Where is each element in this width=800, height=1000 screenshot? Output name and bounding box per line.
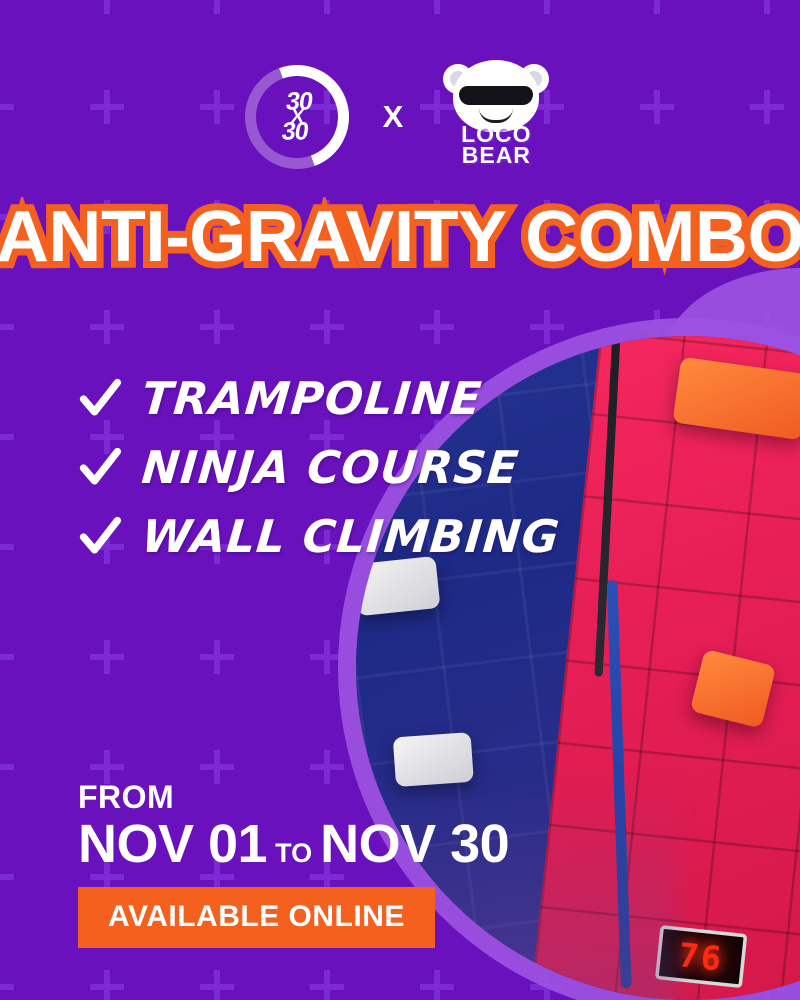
plus-decoration (530, 0, 564, 14)
date-range: NOV 01 TO NOV 30 (78, 817, 509, 871)
plus-decoration (90, 970, 124, 1000)
end-date: NOV 30 (320, 817, 509, 871)
from-label: FROM (78, 781, 509, 813)
checkmark-icon (78, 377, 122, 421)
plus-decoration (0, 530, 14, 564)
plus-decoration (0, 860, 14, 894)
list-item: TRAMPOLINE (78, 372, 560, 425)
start-date: NOV 01 (78, 817, 267, 871)
feature-label: WALL CLIMBING (140, 510, 562, 563)
plus-decoration (0, 310, 14, 344)
list-item: NINJA COURSE (78, 441, 560, 494)
plus-decoration (0, 750, 14, 784)
plus-decoration (0, 420, 14, 454)
collab-x-separator: X (383, 99, 404, 135)
checkmark-icon (78, 446, 122, 490)
plus-decoration (90, 310, 124, 344)
poster-footer: FROM NOV 01 TO NOV 30 AVAILABLE ONLINE (78, 781, 509, 948)
plus-decoration (310, 310, 344, 344)
date-connector: TO (275, 840, 312, 867)
plus-decoration (200, 970, 234, 1000)
plus-decoration (420, 0, 454, 14)
plus-decoration (0, 0, 14, 14)
plus-decoration (310, 970, 344, 1000)
plus-decoration (310, 0, 344, 14)
3030-logo: 30 X 30 (245, 65, 349, 169)
available-online-badge[interactable]: AVAILABLE ONLINE (78, 887, 435, 948)
wall-hold (356, 556, 441, 616)
plus-decoration (90, 640, 124, 674)
plus-decoration (0, 640, 14, 674)
brand-logo-row: 30 X 30 X LOCO BEAR (0, 62, 800, 172)
checkmark-icon (78, 515, 122, 559)
bear-sunglasses-icon (459, 86, 533, 105)
bear-wordmark-line2: BEAR (437, 145, 555, 166)
logo-mark-bottom: 30 (280, 118, 310, 146)
plus-decoration (640, 0, 674, 14)
plus-decoration (750, 0, 784, 14)
feature-label: TRAMPOLINE (140, 372, 485, 425)
plus-decoration (90, 0, 124, 14)
feature-list: TRAMPOLINE NINJA COURSE WALL CLIMBING (78, 372, 560, 563)
plus-decoration (310, 750, 344, 784)
plus-decoration (0, 970, 14, 1000)
plus-decoration (200, 0, 234, 14)
poster-headline: ANTI-GRAVITY COMBO (0, 196, 800, 278)
plus-decoration (200, 640, 234, 674)
list-item: WALL CLIMBING (78, 510, 560, 563)
loco-bear-logo: LOCO BEAR (437, 62, 555, 172)
plus-decoration (200, 750, 234, 784)
loco-bear-wordmark: LOCO BEAR (437, 124, 555, 166)
plus-decoration (200, 310, 234, 344)
feature-label: NINJA COURSE (140, 441, 522, 494)
promo-poster: 0047 76 (0, 0, 800, 1000)
